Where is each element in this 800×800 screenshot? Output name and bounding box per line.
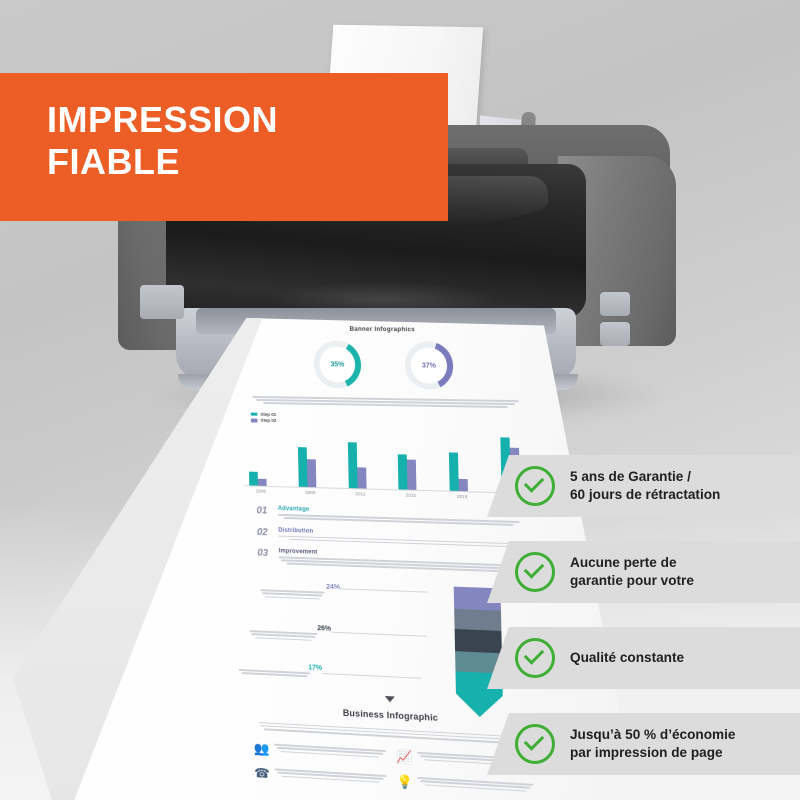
- pyramid-slab: [454, 608, 501, 630]
- step-body: Advantage: [278, 506, 520, 528]
- pyramid-tip: [456, 693, 503, 718]
- feature-text-1: 5 ans de Garantie / 60 jours de rétracta…: [570, 468, 720, 504]
- headline-line-2: FIABLE: [47, 141, 447, 183]
- x-axis-label: 2015: [394, 493, 428, 499]
- donut-chart-1: 35%: [313, 340, 361, 388]
- check-circle-icon: [515, 638, 555, 678]
- bar-group: [393, 428, 428, 491]
- check-circle-icon: [515, 466, 555, 506]
- feature-callout-2[interactable]: Aucune perte de garantie pour votre: [487, 541, 800, 603]
- feature-callout-1[interactable]: 5 ans de Garantie / 60 jours de rétracta…: [487, 455, 800, 517]
- bar-step-02: [258, 478, 267, 486]
- bar-group: [444, 429, 480, 492]
- bar-group: [292, 426, 327, 488]
- bar-step-02: [459, 479, 468, 492]
- legend-label: Step 02: [260, 418, 276, 423]
- feature-line-1: Qualité constante: [570, 649, 684, 667]
- legend-label: Step 01: [260, 412, 276, 417]
- bar-step-01: [449, 452, 459, 492]
- icon-item-people: 👥: [254, 741, 387, 762]
- feature-text-2: Aucune perte de garantie pour votre: [570, 554, 694, 590]
- down-arrow-icon: [385, 696, 395, 703]
- pyramid-slab: [455, 629, 502, 653]
- pyramid-label-3: 17%: [227, 660, 322, 679]
- list-item: 03 Improvement: [257, 548, 520, 575]
- x-axis-label: 2009: [294, 490, 327, 496]
- legend-swatch: [251, 419, 258, 423]
- infographic: Banner Infographics 35% 37%: [235, 321, 544, 800]
- bar-step-02: [307, 459, 316, 487]
- steps-list: 01 Advantage 02 Distribution: [256, 506, 520, 575]
- people-group-icon: 👥: [254, 741, 270, 755]
- phone-clock-icon: ☎: [254, 766, 270, 780]
- bar-step-02: [407, 460, 417, 490]
- feature-line-1: 5 ans de Garantie /: [570, 468, 720, 486]
- list-item: 02 Distribution: [257, 527, 520, 550]
- donut-chart-2: 37%: [404, 341, 453, 390]
- headline-line-1: IMPRESSION: [47, 99, 278, 140]
- step-number: 02: [257, 527, 273, 538]
- feature-line-2: garantie pour votre: [570, 572, 694, 590]
- x-axis-label: 2018: [445, 494, 480, 500]
- business-paragraph: [259, 722, 526, 745]
- lightbulb-icon: 💡: [396, 774, 412, 788]
- icon-item-phone: ☎: [254, 766, 387, 787]
- x-axis-label: 2012: [344, 491, 378, 497]
- icon-item-text: [418, 776, 534, 794]
- feature-line-1: Aucune perte de: [570, 554, 694, 572]
- promo-graphic: Banner Infographics 35% 37%: [0, 0, 800, 800]
- intro-paragraph: [252, 396, 519, 408]
- bar-chart: [243, 425, 531, 494]
- icon-item-text: [275, 767, 387, 785]
- feature-line-2: par impression de page: [570, 744, 735, 762]
- bar-group: [342, 427, 377, 490]
- step-body: Distribution: [278, 527, 520, 549]
- bar-step-02: [357, 468, 366, 489]
- infographic-title: Banner Infographics: [235, 325, 534, 334]
- icon-item-text: [274, 742, 386, 760]
- donut-chart-row: 35% 37%: [236, 340, 536, 392]
- growth-chart-icon: 📈: [396, 749, 412, 763]
- bar-step-01: [298, 447, 308, 488]
- check-circle-icon: [515, 724, 555, 764]
- donut-value-1: 35%: [319, 346, 355, 382]
- feature-callout-3[interactable]: Qualité constante: [487, 627, 800, 689]
- feature-text-3: Qualité constante: [570, 649, 684, 667]
- bar-step-01: [249, 472, 258, 486]
- feature-line-2: 60 jours de rétractation: [570, 486, 720, 504]
- pyramid-label-1: 24%: [244, 580, 340, 602]
- pyramid-label-2: 26%: [236, 621, 332, 643]
- page-title: IMPRESSION FIABLE: [47, 99, 447, 184]
- control-button-1[interactable]: [600, 292, 630, 316]
- step-number: 01: [256, 506, 272, 517]
- feature-callout-4[interactable]: Jusqu’à 50 % d’économie par impression d…: [487, 713, 800, 775]
- feature-line-1: Jusqu’à 50 % d’économie: [570, 726, 735, 744]
- feature-text-4: Jusqu’à 50 % d’économie par impression d…: [570, 726, 735, 762]
- x-axis-label: 2006: [245, 489, 278, 495]
- icon-item-idea: 💡: [396, 774, 533, 795]
- bar-step-01: [347, 443, 357, 489]
- step-number: 03: [257, 548, 273, 559]
- check-circle-icon: [515, 552, 555, 592]
- list-item: 01 Advantage: [256, 506, 519, 528]
- pyramid-percent: 24%: [244, 580, 340, 591]
- legend-swatch: [251, 412, 258, 416]
- step-body: Improvement: [279, 548, 521, 574]
- donut-value-2: 37%: [410, 347, 447, 384]
- bar-group: [243, 425, 277, 487]
- tray-button[interactable]: [140, 285, 184, 319]
